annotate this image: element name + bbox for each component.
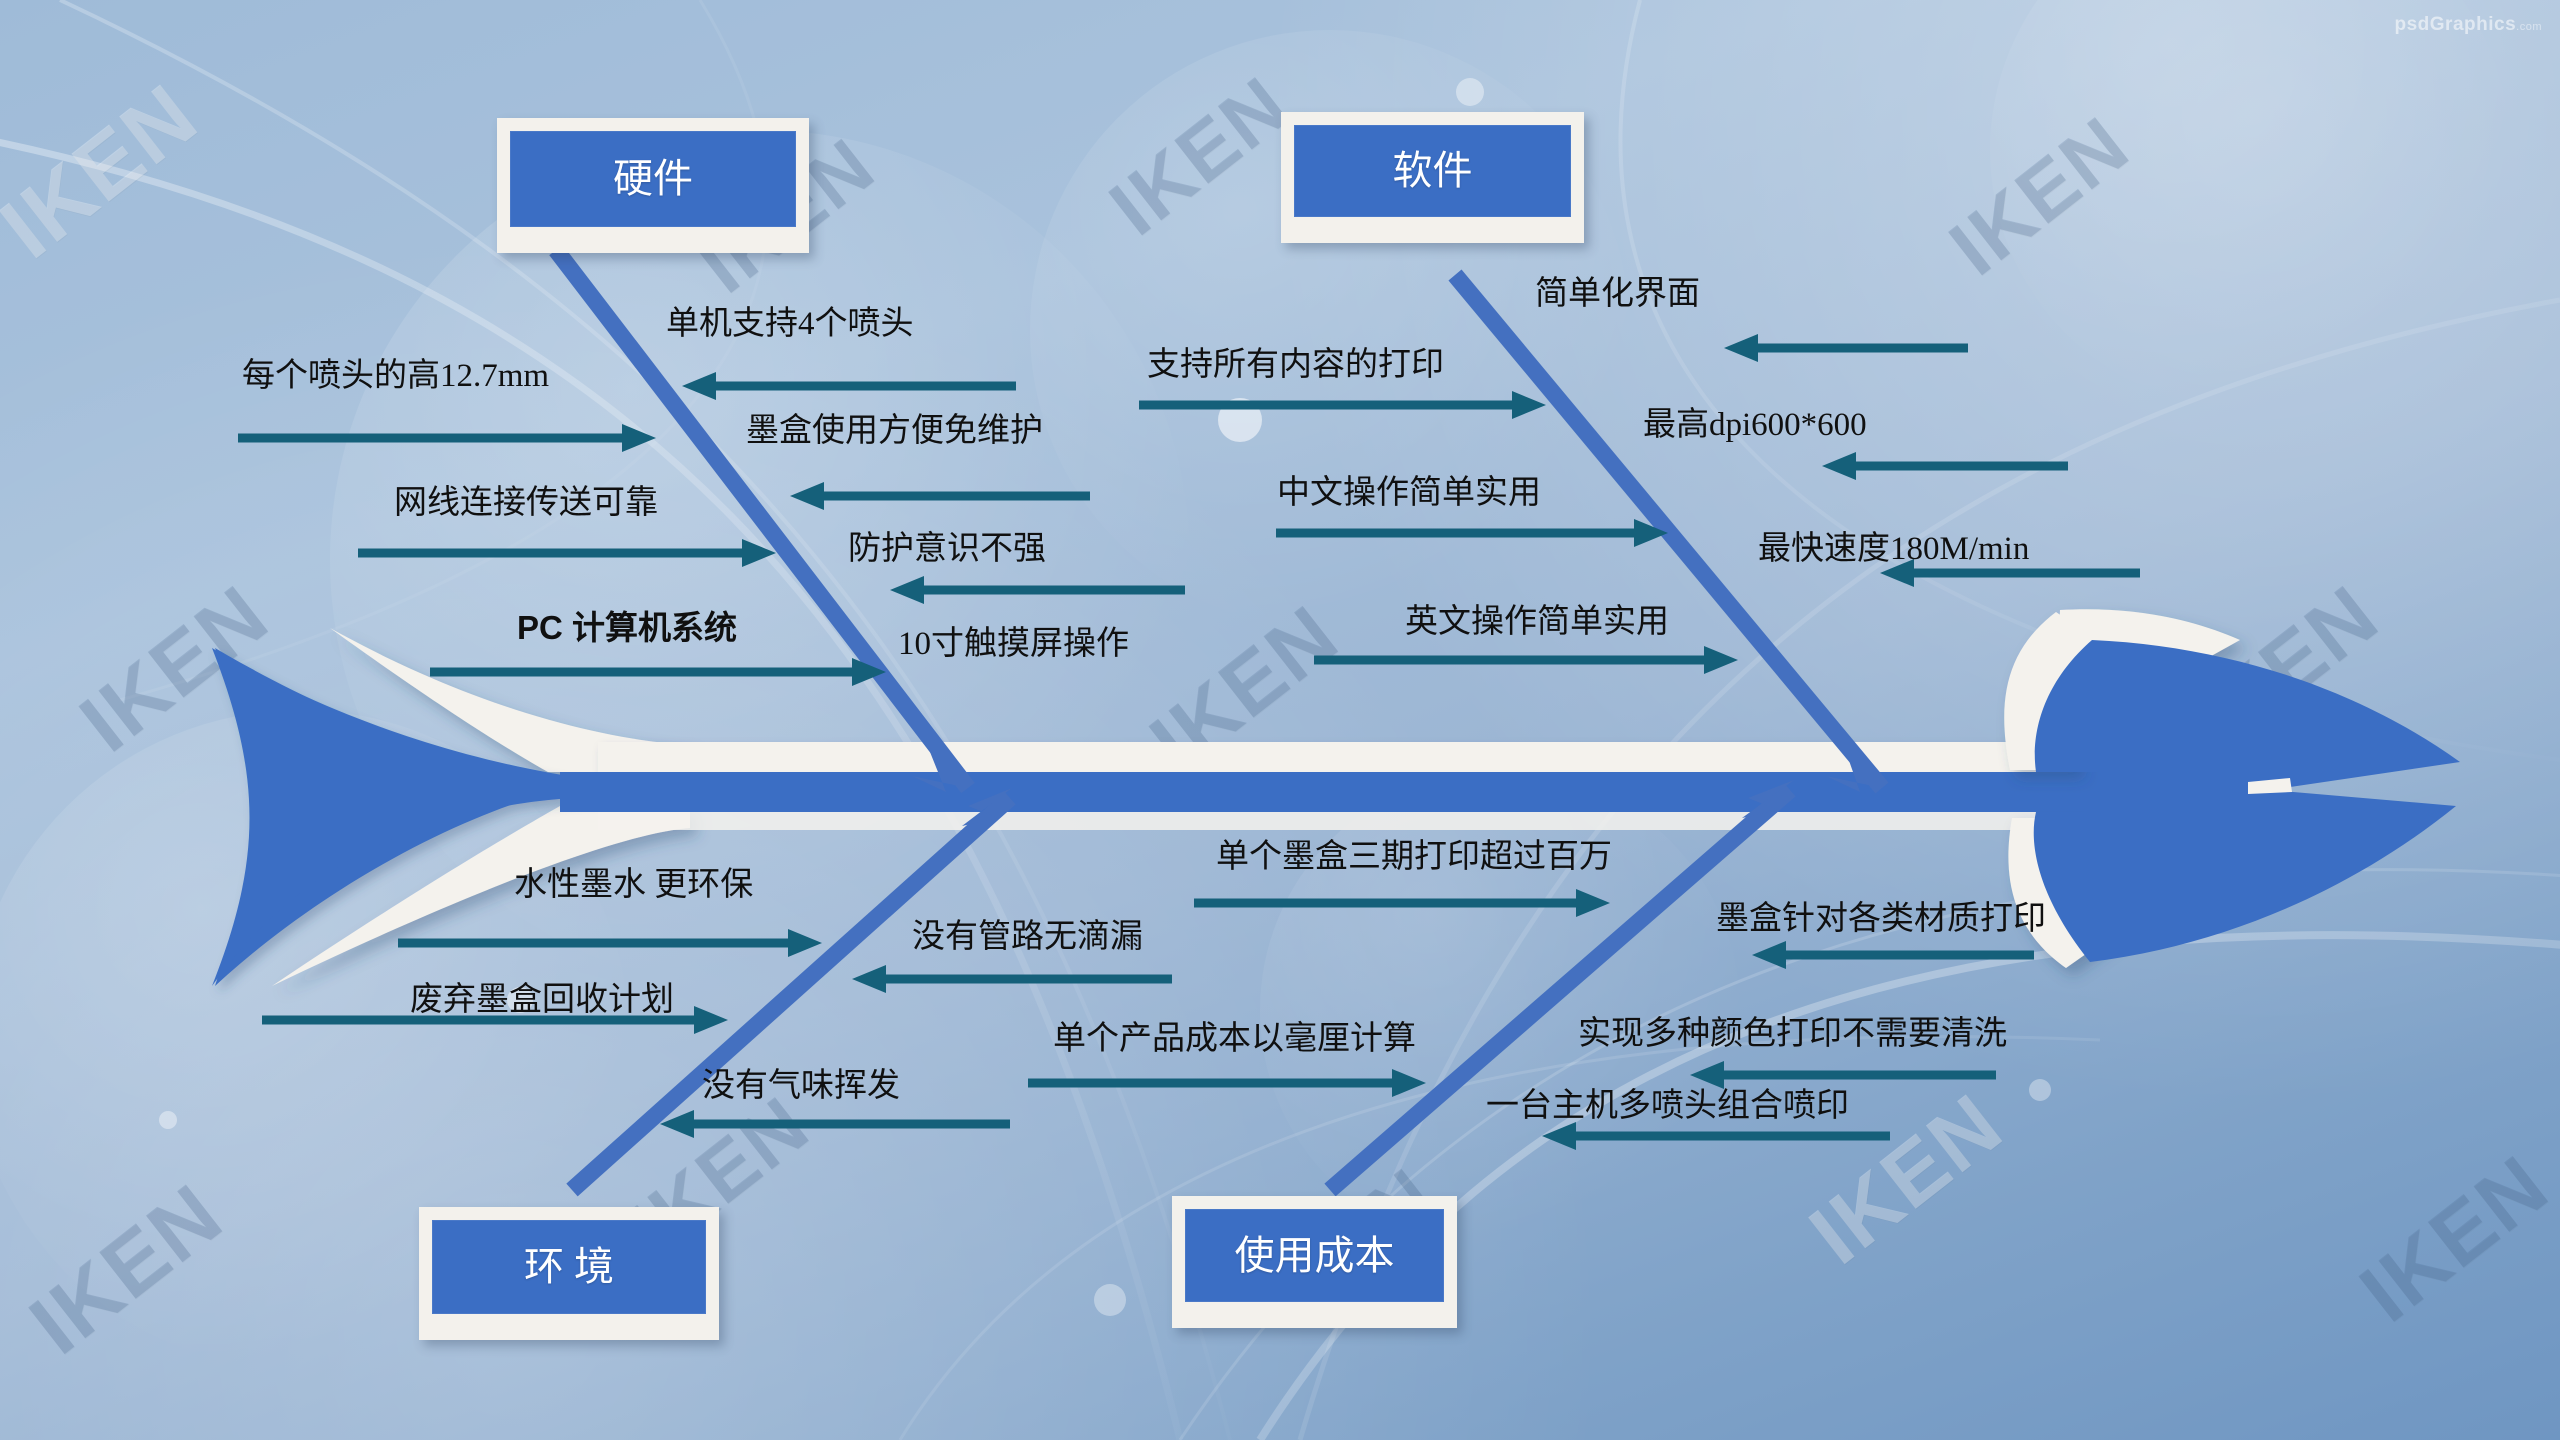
category-box-hardware-fill: 硬件	[510, 131, 796, 227]
cause-label-cost-material-types: 墨盒针对各类材质打印	[1716, 903, 2046, 936]
category-box-software-fill: 软件	[1294, 125, 1571, 217]
cause-label-hardware-network-cable: 网线连接传送可靠	[394, 487, 658, 520]
category-label-cost: 使用成本	[1235, 1236, 1395, 1276]
cause-label-hardware-pc-system: PC 计算机系统	[517, 611, 737, 644]
category-box-environment[interactable]: 环 境	[419, 1207, 719, 1340]
category-label-environment: 环 境	[524, 1247, 614, 1287]
cause-label-environment-no-odor: 没有气味挥发	[702, 1070, 900, 1103]
spine	[560, 772, 2210, 812]
cause-label-hardware-nozzle-height: 每个喷头的高12.7mm	[242, 360, 549, 393]
category-box-hardware[interactable]: 硬件	[497, 118, 809, 253]
cause-label-cost-multi-nozzle: 一台主机多喷头组合喷印	[1486, 1090, 1849, 1123]
category-box-cost-fill: 使用成本	[1185, 1209, 1444, 1302]
category-box-software[interactable]: 软件	[1281, 112, 1584, 243]
category-label-software: 软件	[1393, 151, 1473, 191]
cause-label-cost-cartridge-million: 单个墨盒三期打印超过百万	[1216, 841, 1612, 874]
category-box-environment-fill: 环 境	[432, 1220, 706, 1314]
cause-label-software-max-speed: 最快速度180M/min	[1758, 533, 2029, 566]
cause-label-hardware-cartridge-maintenance: 墨盒使用方便免维护	[746, 415, 1043, 448]
spine-lower-highlight	[598, 812, 2140, 830]
cause-label-environment-recycling: 废弃墨盒回收计划	[410, 984, 674, 1017]
cause-label-hardware-four-nozzles: 单机支持4个喷头	[666, 308, 914, 341]
fishbone-diagram: IKEN IKEN IKEN IKEN IKEN IKEN IKEN IKEN …	[0, 0, 2560, 1440]
cause-label-hardware-protection-awareness: 防护意识不强	[848, 533, 1046, 566]
cause-label-cost-per-product: 单个产品成本以毫厘计算	[1053, 1023, 1416, 1056]
cause-label-software-english-ui: 英文操作简单实用	[1405, 606, 1669, 639]
cause-label-hardware-touchscreen: 10寸触摸屏操作	[898, 628, 1129, 661]
category-box-cost[interactable]: 使用成本	[1172, 1196, 1457, 1328]
cause-label-software-simple-ui: 简单化界面	[1535, 278, 1700, 311]
cause-label-software-print-all: 支持所有内容的打印	[1147, 349, 1444, 382]
category-label-hardware: 硬件	[613, 159, 693, 199]
spine-highlight	[598, 742, 2148, 772]
cause-label-software-max-dpi: 最高dpi600*600	[1643, 409, 1867, 442]
cause-label-environment-water-ink: 水性墨水 更环保	[514, 869, 753, 902]
cause-label-cost-multi-color: 实现多种颜色打印不需要清洗	[1578, 1018, 2007, 1051]
cause-label-software-chinese-ui: 中文操作简单实用	[1277, 477, 1541, 510]
cause-label-environment-no-leak: 没有管路无滴漏	[912, 921, 1143, 954]
